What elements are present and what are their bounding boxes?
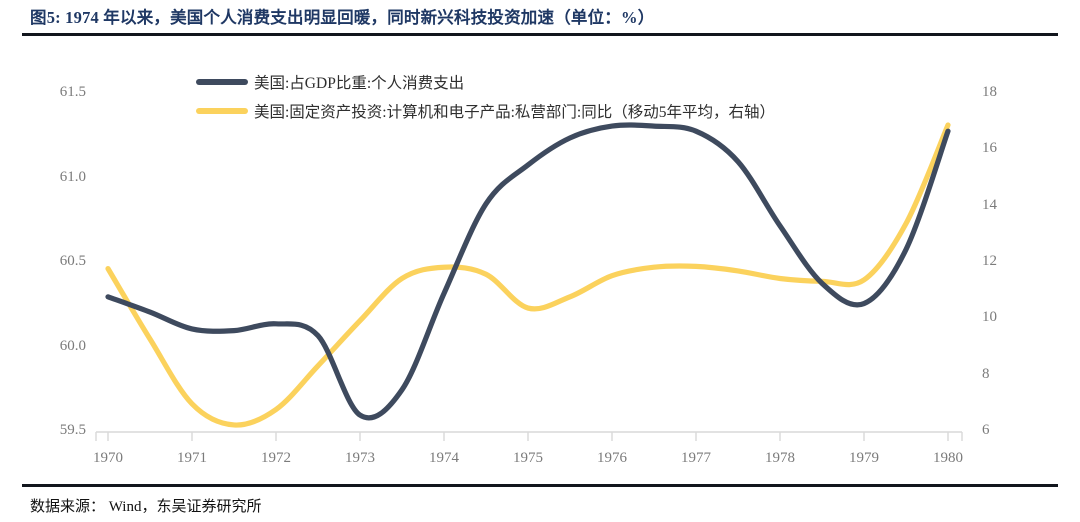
y-axis-right-tick-16: 16 (982, 140, 997, 157)
x-axis-tick-1978: 1978 (740, 450, 820, 467)
y-axis-right-tick-10: 10 (982, 309, 997, 326)
y-axis-right-tick-12: 12 (982, 253, 997, 270)
y-axis-left-tick-61.5: 61.5 (60, 84, 86, 101)
source-note: 数据来源： Wind，东吴证券研究所 (30, 495, 261, 516)
y-axis-left-tick-60.5: 60.5 (60, 253, 86, 270)
x-axis-tick-1973: 1973 (320, 450, 400, 467)
chart-figure: 图5: 1974 年以来，美国个人消费支出明显回暖，同时新兴科技投资加速（单位：… (0, 0, 1080, 522)
y-axis-right-tick-14: 14 (982, 197, 997, 214)
x-axis-tick-1970: 1970 (68, 450, 148, 467)
x-axis-tick-1971: 1971 (152, 450, 232, 467)
series-line-blue (108, 125, 948, 418)
y-axis-left-tick-60.0: 60.0 (60, 338, 86, 355)
x-axis-tick-1974: 1974 (404, 450, 484, 467)
x-axis-tick-1972: 1972 (236, 450, 316, 467)
y-axis-right-tick-8: 8 (982, 366, 990, 383)
y-axis-right-tick-18: 18 (982, 84, 997, 101)
legend-label-0: 美国:占GDP比重:个人消费支出 (254, 71, 464, 93)
x-axis-tick-1975: 1975 (488, 450, 568, 467)
figure-title-bar: 图5: 1974 年以来，美国个人消费支出明显回暖，同时新兴科技投资加速（单位：… (0, 0, 1080, 32)
legend-swatch-blue (196, 79, 248, 85)
x-axis-tick-1979: 1979 (824, 450, 904, 467)
figure-source-bar: 数据来源： Wind，东吴证券研究所 (0, 489, 1080, 522)
y-axis-right-tick-6: 6 (982, 422, 990, 439)
x-axis-tick-1977: 1977 (656, 450, 736, 467)
source-divider (22, 484, 1058, 487)
legend-item-1: 美国:固定资产投资:计算机和电子产品:私营部门:同比（移动5年平均，右轴） (196, 96, 775, 125)
y-axis-left-tick-61.0: 61.0 (60, 169, 86, 186)
x-axis-tick-1980: 1980 (908, 450, 988, 467)
legend-label-1: 美国:固定资产投资:计算机和电子产品:私营部门:同比（移动5年平均，右轴） (254, 100, 775, 122)
title-divider (22, 33, 1058, 36)
x-axis-tick-1976: 1976 (572, 450, 652, 467)
legend-swatch-yellow (196, 108, 248, 114)
plot-area: 美国:占GDP比重:个人消费支出 美国:固定资产投资:计算机和电子产品:私营部门… (0, 40, 1080, 480)
chart-legend: 美国:占GDP比重:个人消费支出 美国:固定资产投资:计算机和电子产品:私营部门… (196, 67, 775, 125)
page-title: 图5: 1974 年以来，美国个人消费支出明显回暖，同时新兴科技投资加速（单位：… (30, 4, 654, 28)
legend-item-0: 美国:占GDP比重:个人消费支出 (196, 67, 775, 96)
y-axis-left-tick-59.5: 59.5 (60, 422, 86, 439)
series-line-yellow (108, 125, 948, 425)
